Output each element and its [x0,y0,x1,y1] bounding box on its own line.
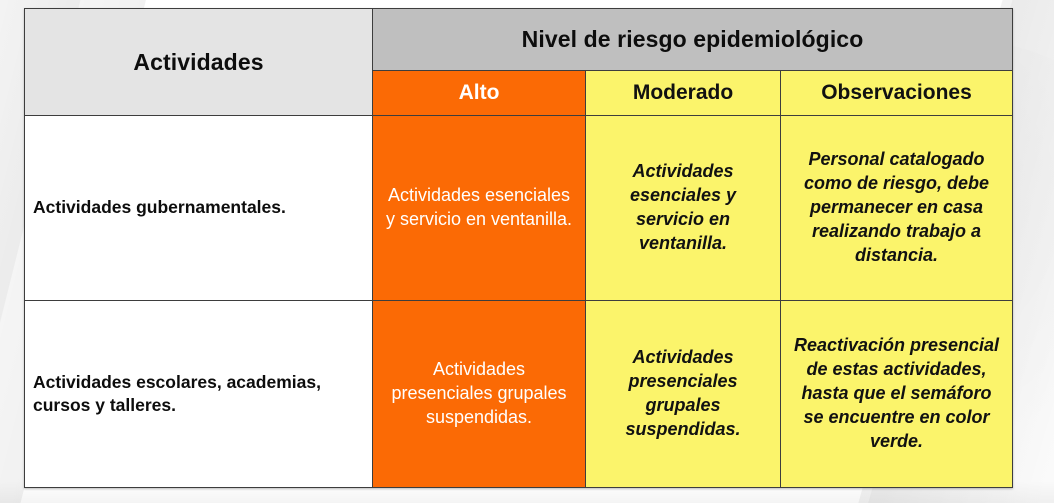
cell-observaciones: Reactivación presencial de estas activid… [781,301,1013,488]
cell-alto: Actividades esenciales y servicio en ven… [373,116,586,301]
header-moderado: Moderado [586,71,781,116]
cell-observaciones: Personal catalogado como de riesgo, debe… [781,116,1013,301]
table-header: Actividades Nivel de riesgo epidemiológi… [25,9,1013,116]
cell-activity: Actividades escolares, academias, cursos… [25,301,373,488]
header-alto: Alto [373,71,586,116]
header-risk-level-group: Nivel de riesgo epidemiológico [373,9,1013,71]
header-observaciones: Observaciones [781,71,1013,116]
cell-moderado: Actividades esenciales y servicio en ven… [586,116,781,301]
cell-alto: Actividades presenciales grupales suspen… [373,301,586,488]
epidemiological-risk-table: Actividades Nivel de riesgo epidemiológi… [24,8,1013,488]
cell-moderado: Actividades presenciales grupales suspen… [586,301,781,488]
table-row: Actividades escolares, academias, cursos… [25,301,1013,488]
header-activities: Actividades [25,9,373,116]
table-body: Actividades gubernamentales. Actividades… [25,116,1013,488]
header-row-top: Actividades Nivel de riesgo epidemiológi… [25,9,1013,71]
table-row: Actividades gubernamentales. Actividades… [25,116,1013,301]
cell-activity: Actividades gubernamentales. [25,116,373,301]
